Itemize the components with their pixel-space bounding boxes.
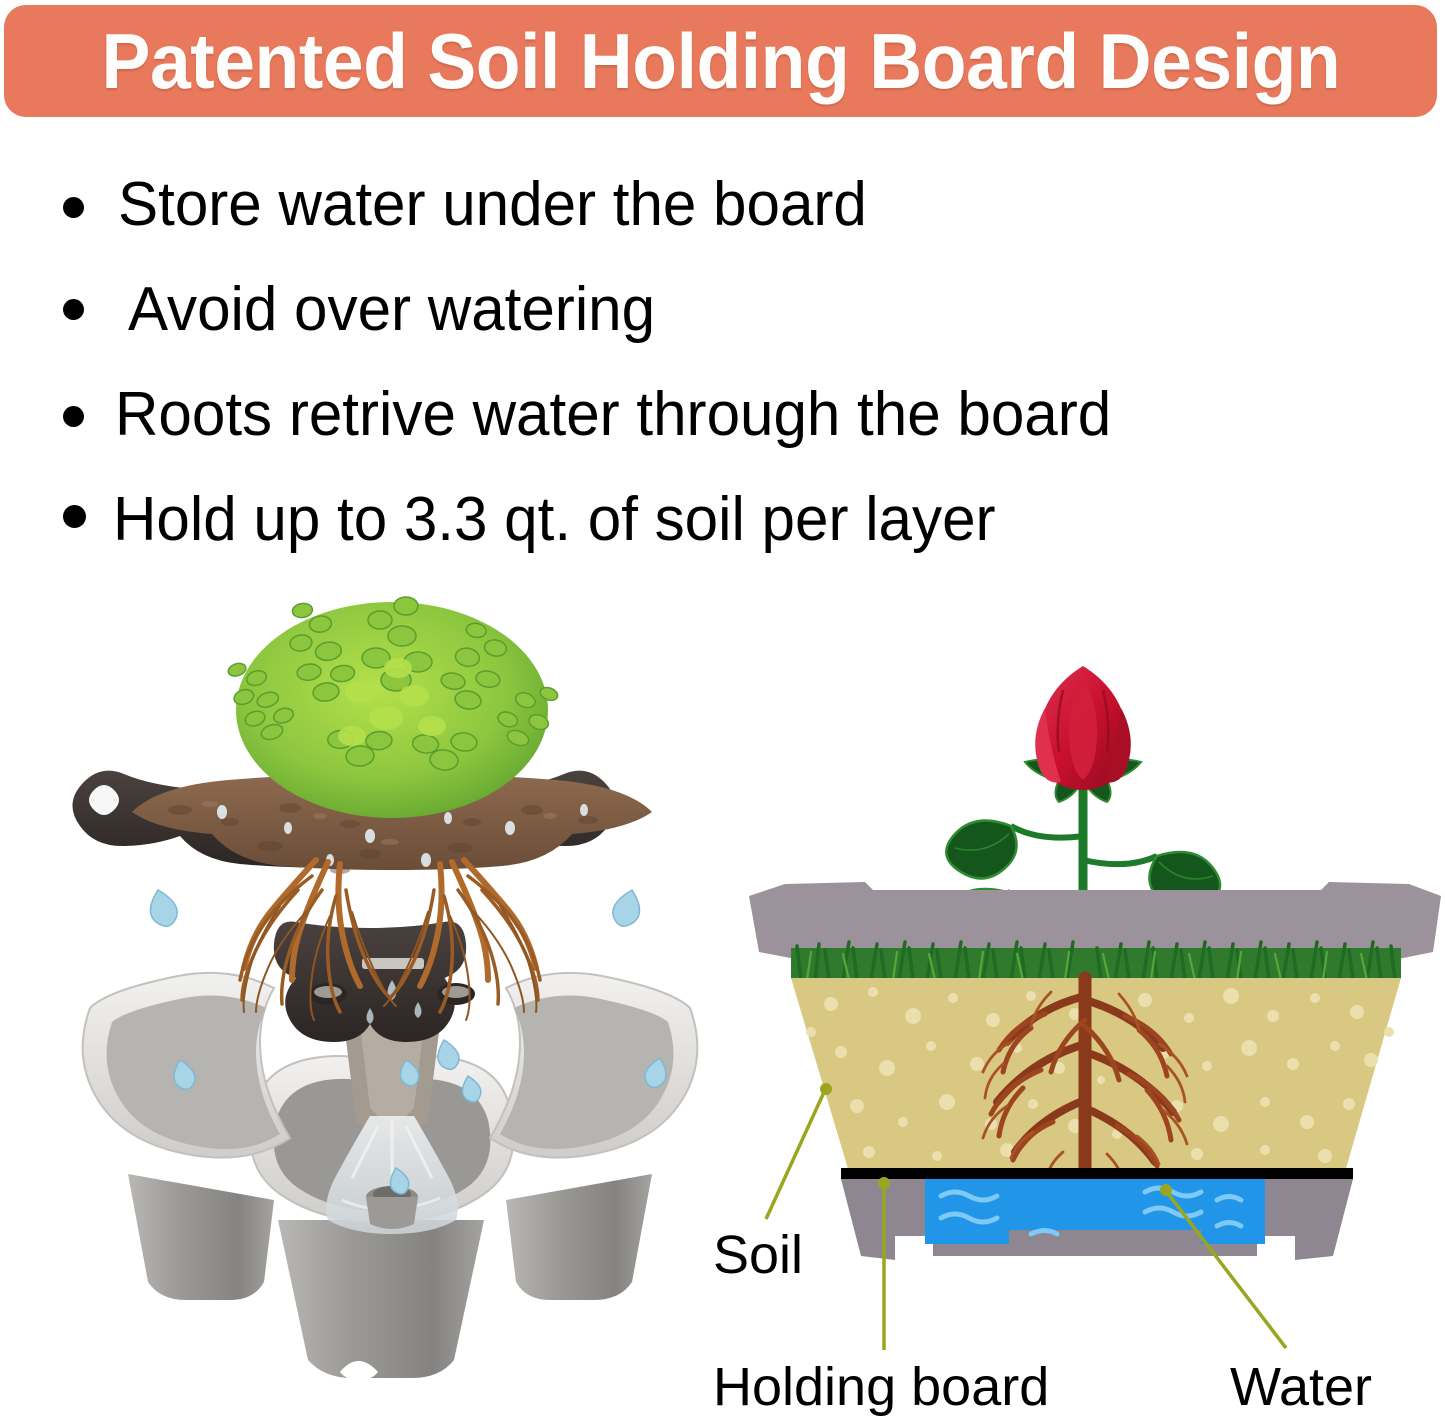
label-soil: Soil	[713, 1228, 803, 1282]
list-item-label: Roots retrive water through the board	[115, 382, 1111, 447]
infographic-page: Patented Soil Holding Board Design Store…	[0, 0, 1445, 1423]
rose-flower-icon	[1035, 666, 1131, 790]
bottom-tier-pot	[278, 1220, 484, 1380]
label-holding-board: Holding board	[713, 1360, 1049, 1414]
cross-section-diagram	[745, 660, 1445, 1280]
product-photo	[40, 560, 740, 1390]
list-item-label: Avoid over watering	[128, 277, 655, 342]
list-item: Hold up to 3.3 qt. of soil per layer	[0, 467, 1445, 572]
list-item: Store water under the board	[0, 152, 1445, 257]
soil-holding-board-lower	[274, 921, 475, 1042]
list-item: Roots retrive water through the board	[0, 362, 1445, 467]
list-item: Avoid over watering	[0, 257, 1445, 362]
list-item-label: Hold up to 3.3 qt. of soil per layer	[113, 487, 996, 552]
bullet-dot-icon	[63, 505, 86, 528]
page-title: Patented Soil Holding Board Design	[101, 22, 1340, 100]
bullet-dot-icon	[63, 299, 84, 320]
holding-board-line	[841, 1168, 1353, 1179]
header-banner: Patented Soil Holding Board Design	[4, 5, 1437, 117]
feature-bullet-list: Store water under the board Avoid over w…	[0, 152, 1445, 572]
drain-spout	[366, 1186, 418, 1229]
middle-tier-left-bowl	[83, 973, 290, 1300]
bullet-dot-icon	[63, 197, 84, 218]
list-item-label: Store water under the board	[118, 172, 867, 237]
middle-tier-right-bowl	[490, 973, 697, 1300]
label-water: Water	[1230, 1360, 1372, 1414]
bullet-dot-icon	[63, 406, 84, 427]
